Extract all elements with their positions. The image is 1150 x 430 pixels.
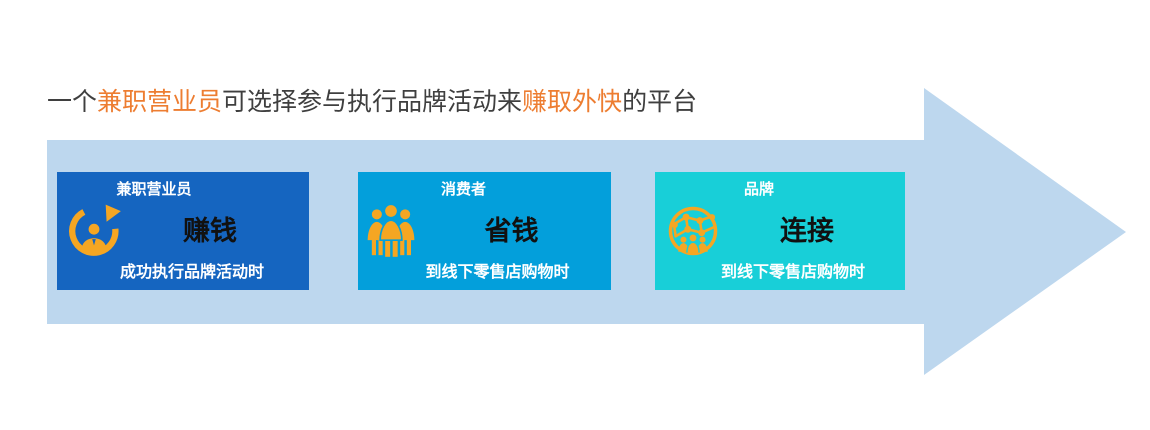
card-1-header: 消费者 bbox=[358, 180, 611, 199]
headline-seg-2: 可选择参与执行品牌活动来 bbox=[222, 89, 522, 116]
slide-canvas: 一个兼职营业员可选择参与执行品牌活动来赚取外快的平台 兼职营业员 赚钱 成功执行… bbox=[0, 0, 1150, 430]
page-title: 一个兼职营业员可选择参与执行品牌活动来赚取外快的平台 bbox=[47, 86, 947, 120]
card-2-title: 连接 bbox=[655, 214, 905, 248]
card-0-caption: 成功执行品牌活动时 bbox=[57, 262, 309, 283]
card-0-header: 兼职营业员 bbox=[57, 180, 309, 199]
card-1-caption: 到线下零售店购物时 bbox=[358, 262, 611, 283]
card-brand[interactable]: 品牌 bbox=[655, 172, 905, 290]
card-0-title: 赚钱 bbox=[57, 214, 309, 248]
headline-seg-1-accent: 兼职营业员 bbox=[97, 89, 222, 116]
card-2-header: 品牌 bbox=[655, 180, 905, 199]
headline-seg-4: 的平台 bbox=[622, 89, 697, 116]
card-2-caption: 到线下零售店购物时 bbox=[655, 262, 905, 283]
card-part-time-salesperson[interactable]: 兼职营业员 赚钱 成功执行品牌活动时 bbox=[57, 172, 309, 290]
card-1-title: 省钱 bbox=[358, 214, 611, 248]
headline-seg-3-accent: 赚取外快 bbox=[522, 89, 622, 116]
headline-seg-0: 一个 bbox=[47, 89, 97, 116]
card-consumer[interactable]: 消费者 省钱 到线下零售店购物时 bbox=[358, 172, 611, 290]
